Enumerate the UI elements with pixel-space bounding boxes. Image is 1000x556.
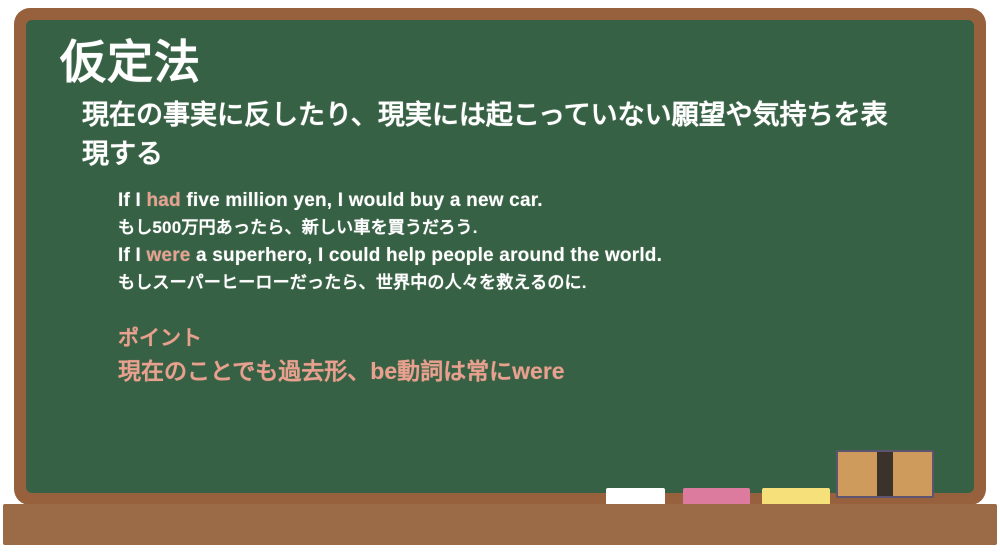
blackboard-surface: 仮定法 現在の事実に反したり、現実には起こっていない願望や気持ちを表現する If… <box>26 20 974 493</box>
point-heading: ポイント <box>118 323 948 355</box>
example-1-prefix: If I <box>118 190 146 211</box>
example-2-suffix: a superhero, I could help people around … <box>191 245 663 266</box>
example-1-keyword: had <box>146 190 180 211</box>
eraser-left-half <box>838 452 877 496</box>
eraser-center-band <box>877 452 893 496</box>
yellow-chalk <box>762 488 830 505</box>
chalk-ledge <box>3 504 997 545</box>
example-1-suffix: five million yen, I would buy a new car. <box>181 190 543 211</box>
example-english-2: If I were a superhero, I could help peop… <box>118 242 948 271</box>
example-japanese-2: もしスーパーヒーローだったら、世界中の人々を救えるのに. <box>118 270 948 296</box>
blackboard-content: 仮定法 現在の事実に反したり、現実には起こっていない願望や気持ちを表現する If… <box>26 20 974 493</box>
eraser-right-half <box>893 452 932 496</box>
example-sentences: If I had five million yen, I would buy a… <box>118 187 948 297</box>
page-title: 仮定法 <box>60 38 948 86</box>
white-chalk <box>606 488 665 505</box>
point-section: ポイント 現在のことでも過去形、be動詞は常にwere <box>118 323 948 389</box>
example-2-keyword: were <box>146 245 190 266</box>
example-japanese-1: もし500万円あったら、新しい車を買うだろう. <box>118 215 948 241</box>
blackboard-slide: 仮定法 現在の事実に反したり、現実には起こっていない願望や気持ちを表現する If… <box>0 0 1000 556</box>
point-body: 現在のことでも過去形、be動詞は常にwere <box>118 354 948 389</box>
pink-chalk <box>683 488 750 505</box>
blackboard-eraser <box>836 450 934 498</box>
blackboard-frame: 仮定法 現在の事実に反したり、現実には起こっていない願望や気持ちを表現する If… <box>14 8 986 505</box>
lesson-subtitle: 現在の事実に反したり、現実には起こっていない願望や気持ちを表現する <box>82 96 912 173</box>
example-english-1: If I had five million yen, I would buy a… <box>118 187 948 216</box>
example-2-prefix: If I <box>118 245 146 266</box>
